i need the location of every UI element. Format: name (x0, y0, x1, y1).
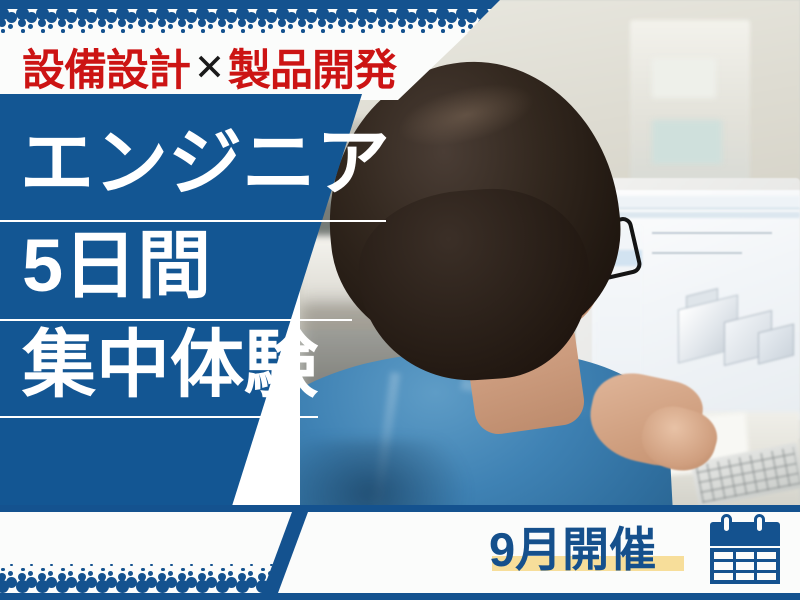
calendar-cell (714, 562, 733, 569)
headline-group: エンジニア 5日間 集中体験 (0, 94, 470, 506)
photo-cad-toolbar (592, 196, 800, 209)
headline-divider-2 (0, 319, 352, 321)
calendar-cell (736, 573, 755, 580)
photo-cad-3d-model (678, 290, 798, 382)
event-date-label: 9月開催 (489, 522, 656, 578)
calendar-cell (714, 573, 733, 580)
headline-line-engineer: エンジニア (20, 124, 390, 202)
calendar-cell (757, 573, 776, 580)
calendar-cell (714, 552, 733, 559)
calendar-grid (710, 548, 780, 584)
calendar-ring-left (721, 514, 732, 534)
event-date-group: 9月開催 (489, 519, 656, 581)
photo-wall-panel-upper (652, 58, 716, 98)
footer-bottom-rule (0, 593, 800, 600)
calendar-cell (757, 552, 776, 559)
top-banner-text: 設備設計 ✕ 製品開発 (22, 40, 442, 94)
headline-line-days: 5日間 (22, 227, 211, 305)
footer-top-rule (0, 505, 800, 512)
dot-row (0, 564, 292, 567)
photo-cad-line (652, 232, 772, 234)
top-banner-right-label: 製品開発 (228, 36, 396, 98)
dot-row (0, 29, 500, 33)
photo-wall-panel (630, 20, 750, 200)
headline-divider-3 (0, 416, 318, 418)
calendar-cell (757, 562, 776, 569)
bottom-dot-pattern (0, 540, 292, 600)
calendar-ring-right (754, 514, 765, 534)
dot-row (0, 571, 292, 576)
dot-row (0, 568, 292, 572)
cross-separator-icon: ✕ (192, 46, 226, 89)
headline-line-intensive: 集中体験 (22, 326, 318, 404)
top-banner-left-label: 設備設計 (22, 36, 190, 98)
calendar-cell (736, 552, 755, 559)
photo-wall-panel-lower (652, 120, 722, 164)
photo-cad-line (652, 252, 742, 254)
headline-divider-1 (0, 220, 386, 222)
calendar-cell (736, 562, 755, 569)
poster-canvas: 設備設計 ✕ 製品開発 エンジニア 5日間 集中体験 9月開催 (0, 0, 800, 600)
calendar-icon (706, 510, 784, 584)
